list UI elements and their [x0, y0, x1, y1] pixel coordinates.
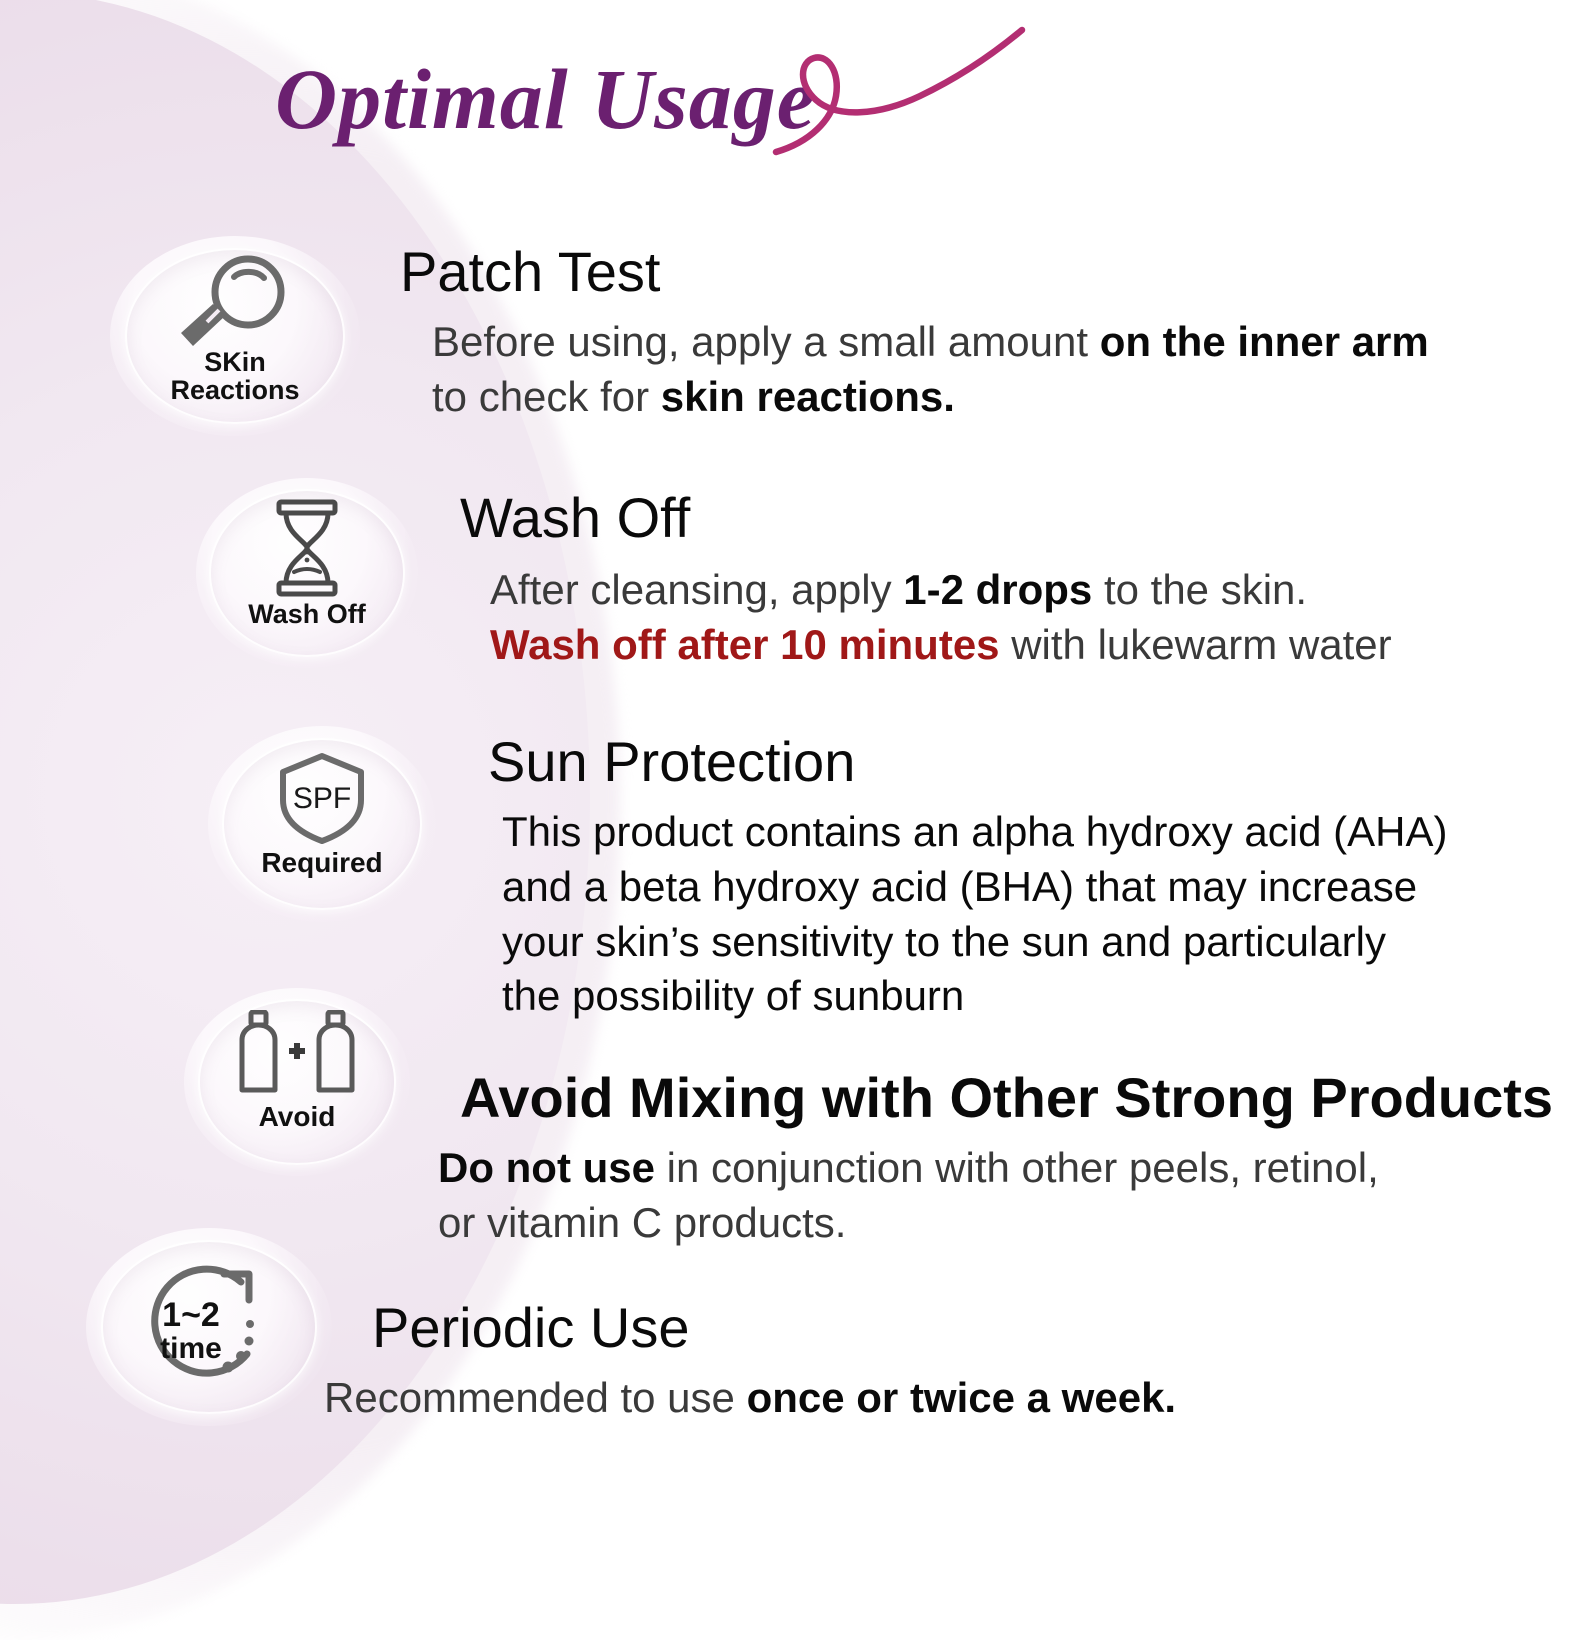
body-line: to check for skin reactions.: [432, 370, 1429, 425]
icon-caption-wash-off: Wash Off: [196, 600, 418, 628]
section-avoid-mixing: Avoid Mixing with Other Strong Products …: [460, 1068, 1553, 1251]
body-line: the possibility of sunburn: [502, 969, 1447, 1024]
icon-caption-avoid: Avoid: [184, 1102, 410, 1131]
section-heading: Avoid Mixing with Other Strong Products: [460, 1068, 1553, 1127]
cycle-count-text: 1~2: [162, 1296, 220, 1334]
cycle-arrow-icon: 1~2 time: [86, 1246, 332, 1406]
section-patch-test: Patch Test Before using, apply a small a…: [400, 242, 1429, 425]
icon-caption-required: Required: [208, 848, 436, 877]
icon-bubble-periodic-use: 1~2 time: [86, 1228, 332, 1426]
section-heading: Sun Protection: [488, 732, 1447, 791]
body-line: Recommended to use once or twice a week.: [324, 1371, 1176, 1426]
page-title: Optimal Usage: [275, 56, 816, 142]
section-heading: Periodic Use: [372, 1298, 1176, 1357]
two-bottles-plus-icon: [184, 1010, 410, 1100]
calligraphic-swirl-flourish-icon: [770, 24, 1030, 164]
icon-bubble-avoid-mixing: Avoid: [184, 988, 410, 1176]
spf-shield-icon: SPF: [208, 750, 436, 846]
icon-bubble-skin-reactions: SKin Reactions: [110, 236, 360, 436]
section-body: This product contains an alpha hydroxy a…: [502, 805, 1447, 1023]
section-body: Recommended to use once or twice a week.: [324, 1371, 1176, 1426]
section-body: After cleansing, apply 1-2 drops to the …: [490, 563, 1392, 672]
hourglass-icon: [196, 498, 418, 598]
cycle-unit-text: time: [160, 1332, 222, 1365]
icon-bubble-wash-off: Wash Off: [196, 478, 418, 668]
body-line: Do not use in conjunction with other pee…: [438, 1141, 1553, 1196]
section-body: Do not use in conjunction with other pee…: [438, 1141, 1553, 1250]
body-line: your skin’s sensitivity to the sun and p…: [502, 915, 1447, 970]
body-line: and a beta hydroxy acid (BHA) that may i…: [502, 860, 1447, 915]
icon-caption-skin-reactions: SKin Reactions: [110, 348, 360, 404]
body-line: or vitamin C products.: [438, 1196, 1553, 1251]
section-periodic-use: Periodic Use Recommended to use once or …: [372, 1298, 1176, 1426]
page-title-block: Optimal Usage: [275, 34, 1035, 174]
body-line: Wash off after 10 minutes with lukewarm …: [490, 618, 1392, 673]
spf-badge-text: SPF: [293, 782, 351, 815]
body-line: Before using, apply a small amount on th…: [432, 315, 1429, 370]
magnifier-icon: [110, 250, 360, 354]
section-body: Before using, apply a small amount on th…: [432, 315, 1429, 424]
section-wash-off: Wash Off After cleansing, apply 1-2 drop…: [460, 488, 1392, 673]
section-heading: Wash Off: [460, 488, 1392, 547]
body-line: This product contains an alpha hydroxy a…: [502, 805, 1447, 860]
icon-bubble-spf-required: SPF Required: [208, 726, 436, 922]
body-line: After cleansing, apply 1-2 drops to the …: [490, 563, 1392, 618]
section-heading: Patch Test: [400, 242, 1429, 301]
section-sun-protection: Sun Protection This product contains an …: [488, 732, 1447, 1024]
